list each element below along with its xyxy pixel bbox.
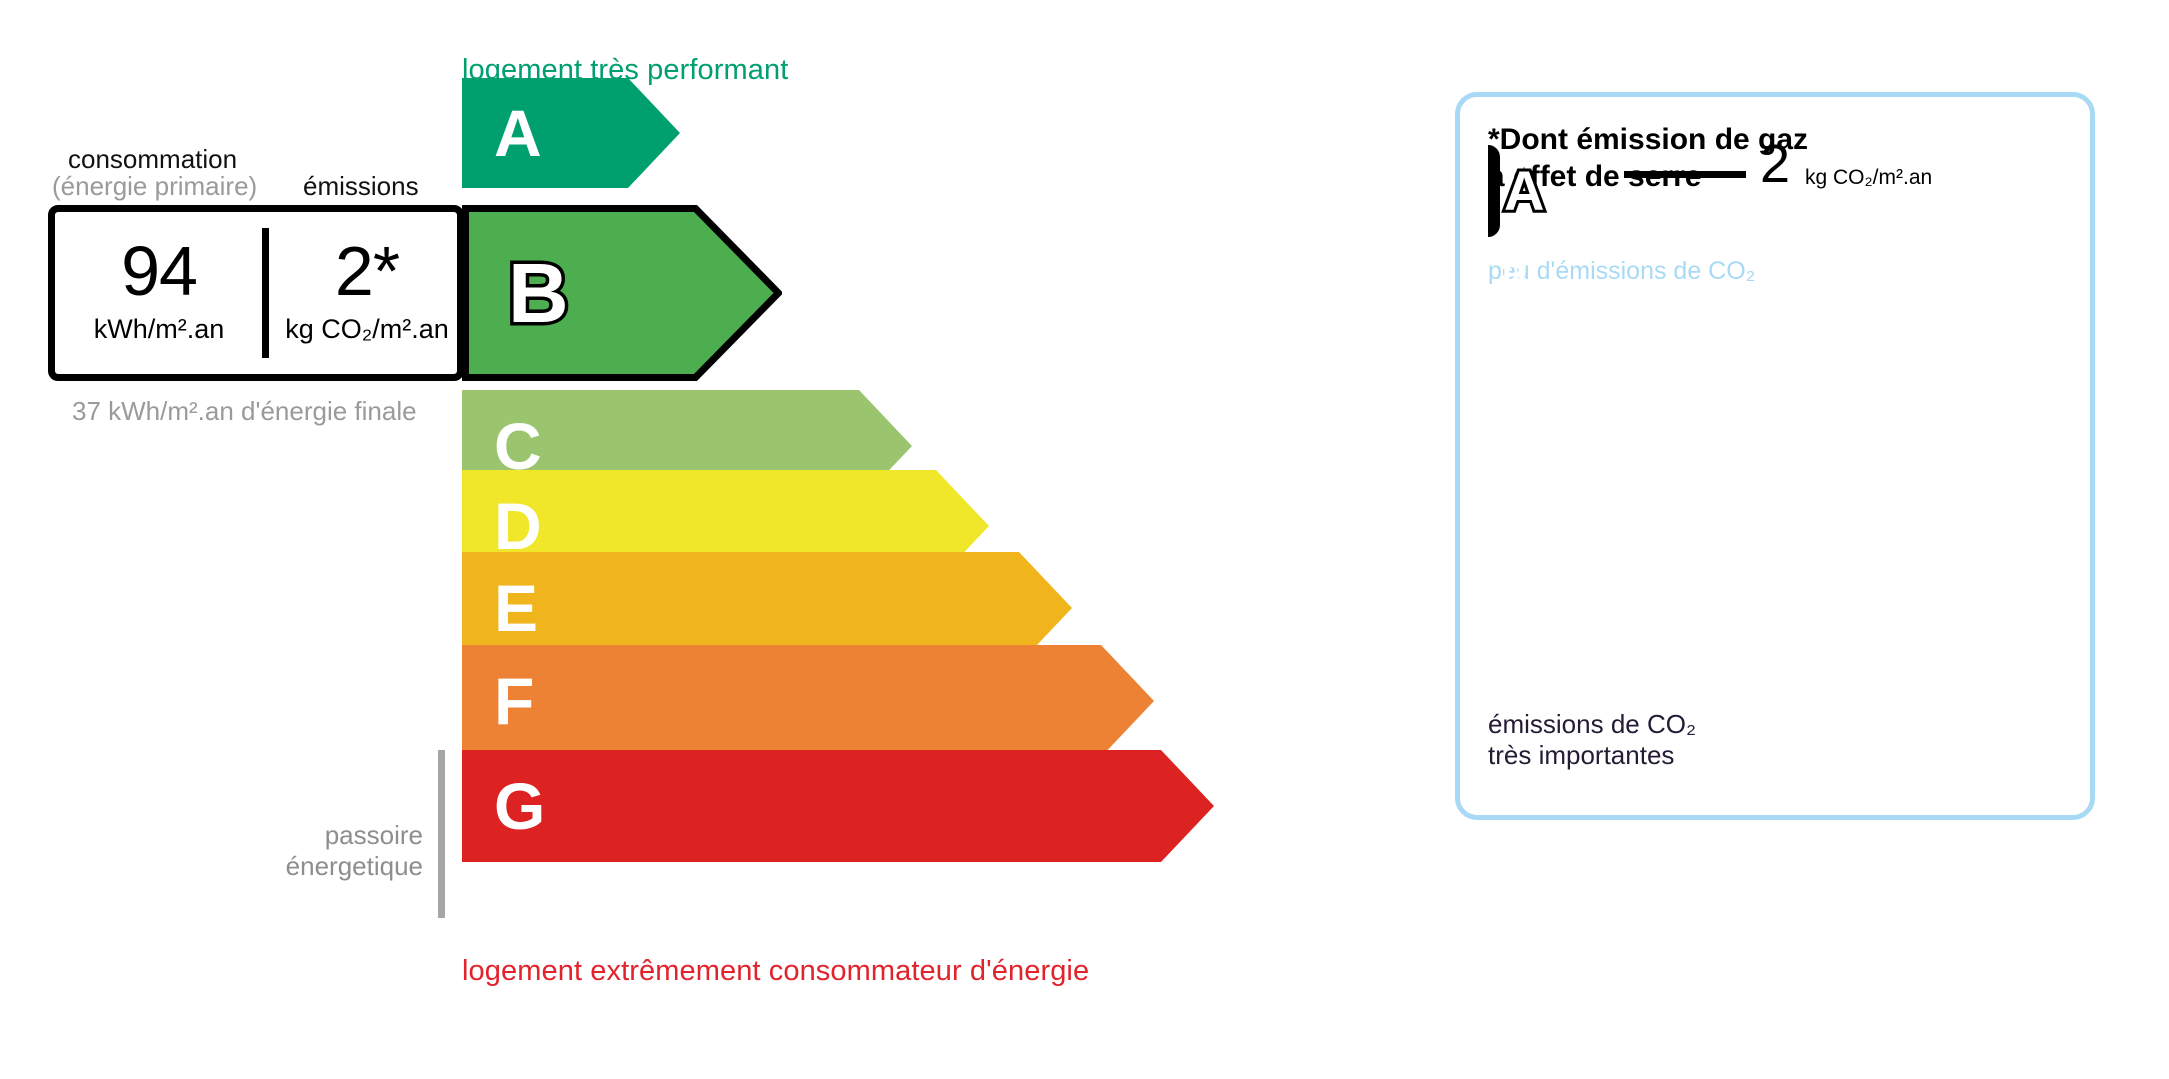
ges-class-letter-a: A (1504, 163, 1544, 219)
ges-class-letter-e: E (1502, 409, 1525, 443)
ges-bottom-label: émissions de CO₂ très importantes (1488, 709, 1696, 770)
consumption-unit: kWh/m².an (55, 316, 263, 343)
ges-class-bar-d[interactable]: D (1488, 355, 1736, 397)
ges-class-bar-b[interactable]: B (1488, 255, 1658, 297)
ges-class-letter-g: G (1502, 509, 1528, 543)
arrow-shape-g (462, 750, 1214, 862)
energy-class-letter-e: E (494, 575, 538, 641)
energy-class-letter-d: D (494, 493, 542, 559)
energy-class-arrow-b[interactable]: B (462, 205, 782, 381)
consumption-cell: 94 kWh/m².an (55, 212, 263, 374)
ges-class-bar-g[interactable]: G (1488, 505, 1856, 547)
energy-class-arrow-f[interactable]: F (462, 645, 1154, 757)
emissions-value: 2* (263, 236, 471, 306)
dpe-diagram: logement très performant consommation (é… (0, 0, 2169, 1079)
passoire-marker-bar (438, 750, 445, 918)
consumption-value: 94 (55, 236, 263, 306)
ges-value-unit: kg CO₂/m².an (1805, 167, 1932, 188)
final-energy-note: 37 kWh/m².an d'énergie finale (72, 396, 417, 427)
emissions-header: émissions (303, 171, 419, 202)
ges-class-letter-b: B (1502, 259, 1527, 293)
ges-class-bar-e[interactable]: E (1488, 405, 1776, 447)
ges-class-letter-d: D (1502, 359, 1527, 393)
value-box: 94 kWh/m².an 2* kg CO₂/m².an (48, 205, 464, 381)
energy-class-letter-f: F (494, 668, 534, 734)
ges-class-bar-f[interactable]: F (1488, 455, 1816, 497)
emissions-unit: kg CO₂/m².an (263, 316, 471, 343)
ges-class-bar-a[interactable]: A (1488, 145, 1624, 237)
ges-class-letter-f: F (1502, 459, 1523, 493)
consumption-subheader: (énergie primaire) (52, 171, 257, 202)
arrow-shape-f (462, 645, 1154, 757)
energy-class-letter-b: B (508, 251, 569, 335)
energy-bottom-label: logement extrêmement consommateur d'éner… (462, 955, 1089, 988)
ges-panel: *Dont émission de gaz à effet de serre p… (1455, 92, 2095, 820)
value-box-divider (262, 228, 269, 358)
ges-leader-line (1624, 171, 1746, 178)
energy-performance-panel: logement très performant consommation (é… (0, 0, 1400, 1079)
passoire-label: passoire énergetique (283, 820, 423, 882)
ges-value: 2 (1760, 137, 1790, 191)
energy-class-letter-g: G (494, 773, 545, 839)
emissions-cell: 2* kg CO₂/m².an (263, 212, 471, 374)
energy-class-arrow-g[interactable]: G (462, 750, 1214, 862)
energy-class-letter-a: A (494, 100, 542, 166)
ges-class-bar-c[interactable]: C (1488, 305, 1696, 347)
energy-class-arrow-a[interactable]: A (462, 78, 680, 188)
ges-bar-fill-a (1488, 145, 1500, 237)
ges-class-letter-c: C (1502, 309, 1527, 343)
